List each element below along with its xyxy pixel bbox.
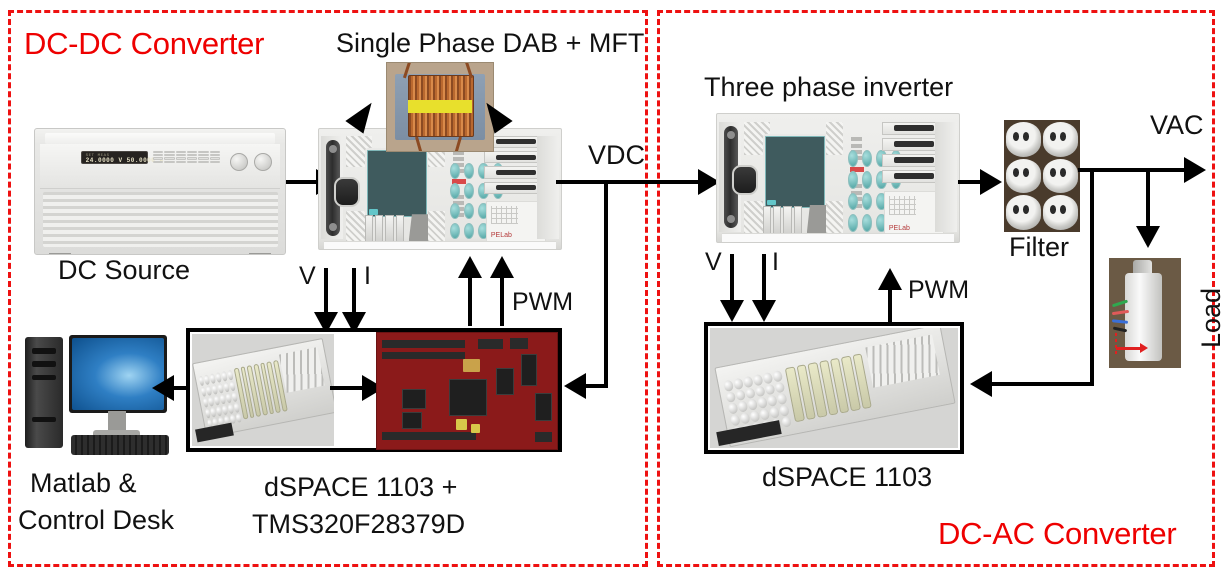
arrow-load-feedback — [970, 371, 992, 397]
arrow-inverter-to-filter — [980, 169, 1002, 195]
wire-vdc-bus — [556, 180, 704, 184]
dspace-tms-label-line1: dSPACE 1103 + — [264, 472, 457, 503]
arrow-i-sense-right — [752, 300, 776, 322]
wire-vac-out — [1078, 168, 1200, 172]
filter-label: Filter — [1009, 232, 1069, 263]
arrow-vac-out — [1184, 157, 1206, 183]
diagram-canvas: DC-DC Converter DC-AC Converter SET MEAS… — [0, 0, 1223, 577]
matlab-workstation-photo — [22, 332, 170, 458]
single-phase-dab-label: Single Phase DAB + MFT — [336, 28, 644, 59]
dc-source-photo: SET MEAS 24.0000 V 50.0000 A — [34, 128, 286, 255]
wire-v-sense-left — [324, 268, 328, 316]
pwm-label-right: PWM — [908, 276, 969, 305]
three-phase-inverter-label: Three phase inverter — [704, 72, 953, 103]
filter-photo — [1004, 120, 1080, 232]
psu-display: SET MEAS 24.0000 V 50.0000 A — [81, 151, 148, 164]
arrow-vdc-feedback — [564, 373, 586, 399]
dspace-right-label: dSPACE 1103 — [762, 462, 932, 493]
wire-load-feedback-v — [1090, 170, 1094, 386]
matlab-label-line2: Control Desk — [18, 505, 174, 536]
vdc-label: VDC — [588, 140, 645, 171]
wire-i-sense-right — [762, 254, 766, 304]
i-label-right: I — [772, 248, 779, 277]
dspace-tms-label-line2: TMS320F28379D — [252, 509, 465, 540]
three-phase-inverter-photo — [716, 113, 960, 243]
load-motor-photo — [1109, 258, 1181, 368]
dc-dc-converter-title: DC-DC Converter — [24, 26, 264, 62]
dc-source-label: DC Source — [58, 255, 190, 286]
vac-label: VAC — [1150, 110, 1204, 141]
wire-vdc-feedback — [604, 182, 608, 386]
wire-v-sense-right — [730, 254, 734, 304]
wire-source-to-dab — [286, 180, 320, 184]
wire-pwm-left-2 — [500, 278, 504, 326]
dspace-1103-photo-left — [192, 334, 334, 446]
wire-load-feedback-h — [992, 382, 1094, 386]
wire-i-sense-left — [352, 268, 356, 316]
matlab-label-line1: Matlab & — [30, 468, 137, 499]
arrow-pc-in — [152, 375, 174, 401]
wire-pwm-left-1 — [468, 278, 472, 326]
wire-to-load — [1146, 170, 1150, 230]
arrow-pwm-right — [878, 268, 902, 290]
arrow-pwm-left-2 — [490, 256, 514, 278]
v-label-right: V — [705, 248, 722, 277]
arrow-to-load — [1136, 226, 1160, 248]
i-label-left: I — [364, 262, 371, 291]
arrow-pwm-left-1 — [458, 256, 482, 278]
v-label-left: V — [299, 262, 316, 291]
load-label: Load — [1196, 288, 1223, 348]
wire-vdc-feedback-h — [586, 384, 608, 388]
pwm-label-left: PWM — [512, 288, 573, 317]
dspace-1103-photo-right — [710, 328, 958, 448]
arrow-v-sense-right — [720, 300, 744, 322]
tms320f28379d-board-photo — [376, 332, 558, 450]
dc-ac-converter-title: DC-AC Converter — [938, 516, 1176, 552]
mft-transformer-photo — [386, 62, 494, 152]
